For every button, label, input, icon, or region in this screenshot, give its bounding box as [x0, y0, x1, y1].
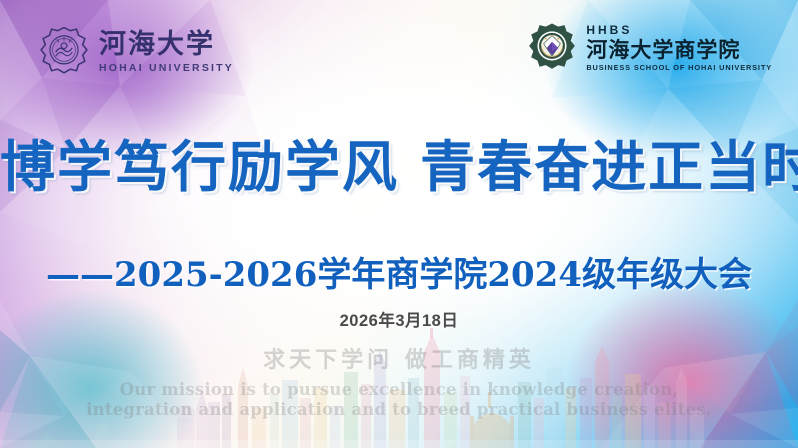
business-school-name-en: BUSINESS SCHOOL OF HOHAI UNIVERSITY	[586, 64, 772, 71]
poster-date: 2026年3月18日	[0, 307, 798, 331]
business-school-seal-icon	[526, 22, 578, 74]
hohai-university-seal-icon	[38, 26, 90, 78]
hohai-name-en: HOHAI UNIVERSITY	[99, 63, 234, 74]
hohai-name-cn: 河海大学	[99, 31, 234, 58]
hohai-university-logo: 河海大学 HOHAI UNIVERSITY	[38, 26, 234, 78]
business-school-logo: HHBS 河海大学商学院 BUSINESS SCHOOL OF HOHAI UN…	[526, 22, 772, 74]
presentation-poster: 河海大学 HOHAI UNIVERSITY HHBS 河海大学商学院 BUSIN…	[0, 0, 798, 448]
poster-subtitle: ——2025-2026学年商学院2024级年级大会	[0, 247, 798, 296]
city-skyline-illustration	[0, 328, 798, 448]
business-school-name-cn: 河海大学商学院	[586, 39, 772, 60]
poster-main-title: 博学笃行励学风 青春奋进正当时	[0, 122, 798, 202]
business-school-abbr: HHBS	[586, 24, 772, 36]
